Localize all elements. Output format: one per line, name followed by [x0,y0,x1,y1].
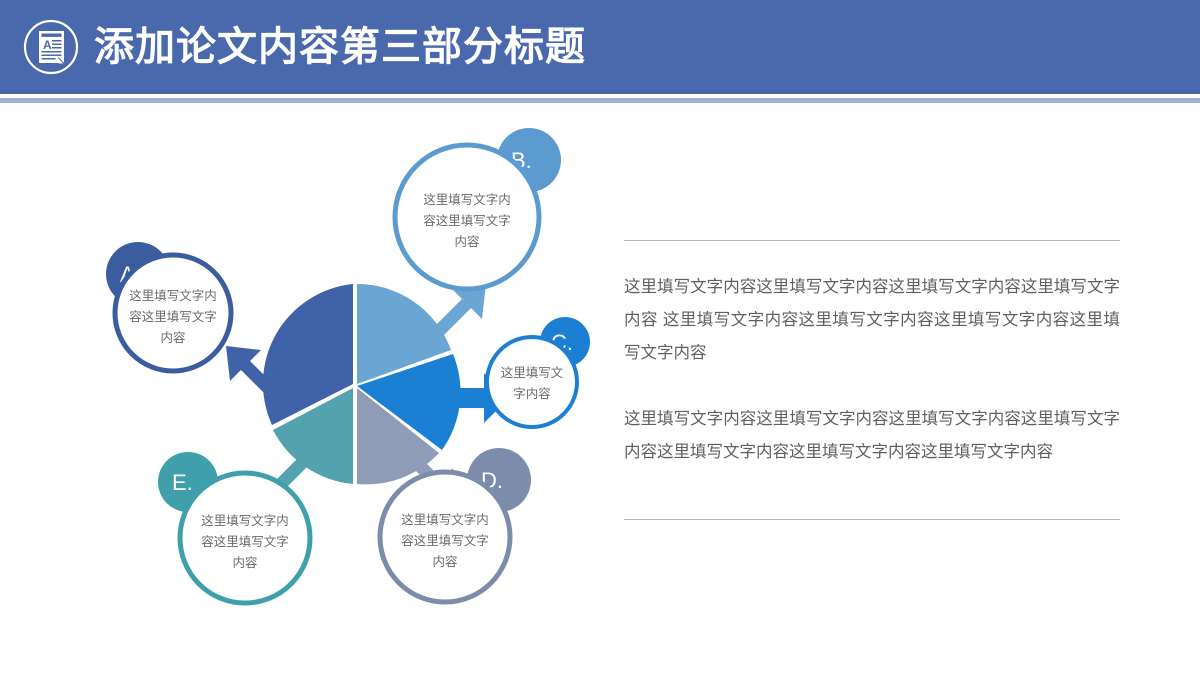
node-a-text-line-1: 这里填写文字内 [129,288,217,303]
node-c-text-line-1: 这里填写文 [501,365,564,380]
header-underline [0,98,1200,103]
node-c-text-line-2: 字内容 [513,386,551,401]
node-b-text-line-1: 这里填写文字内 [423,192,511,207]
header-bar: A 添加论文内容第三部分标题 [0,0,1200,94]
node-a-text-line-3: 内容 [160,330,185,345]
node-d-text-line-1: 这里填写文字内 [401,512,489,527]
node-a-text-line-2: 容这里填写文字 [129,309,217,324]
document-a-icon: A [22,18,80,76]
node-e-text-line-1: 这里填写文字内 [201,513,289,528]
node-b-text-line-2: 容这里填写文字 [423,213,511,228]
svg-text:A: A [43,38,52,52]
node-c[interactable]: C. 这里填写文 字内容 [487,317,590,427]
radial-diagram: A. 这里填写文字内 容这里填写文字 内容 B. 这里填写文字内 容这里填写文字… [95,120,615,640]
node-b-text-line-3: 内容 [454,234,479,249]
node-e-text-line-2: 容这里填写文字 [201,534,289,549]
content-panel: 这里填写文字内容这里填写文字内容这里填写文字内容这里填写文字内容 这里填写文字内… [624,240,1120,520]
node-a[interactable]: A. 这里填写文字内 容这里填写文字 内容 [106,242,231,371]
paragraph-2: 这里填写文字内容这里填写文字内容这里填写文字内容这里填写文字内容这里填写文字内容… [624,403,1120,469]
node-b[interactable]: B. 这里填写文字内 容这里填写文字 内容 [395,128,561,289]
paragraph-1: 这里填写文字内容这里填写文字内容这里填写文字内容这里填写文字内容 这里填写文字内… [624,271,1120,370]
node-d-text-line-3: 内容 [432,554,457,569]
node-d-text-line-2: 容这里填写文字 [401,533,489,548]
node-e-text-line-3: 内容 [232,555,257,570]
node-c-ring [487,337,577,427]
bottom-divider-wrap [624,519,1120,520]
node-e-badge-label: E. [172,470,193,495]
bottom-divider [624,519,1120,520]
paragraph-block: 这里填写文字内容这里填写文字内容这里填写文字内容这里填写文字内容 这里填写文字内… [624,241,1120,491]
slide-canvas: A 添加论文内容第三部分标题 [0,0,1200,675]
page-title: 添加论文内容第三部分标题 [94,27,586,67]
